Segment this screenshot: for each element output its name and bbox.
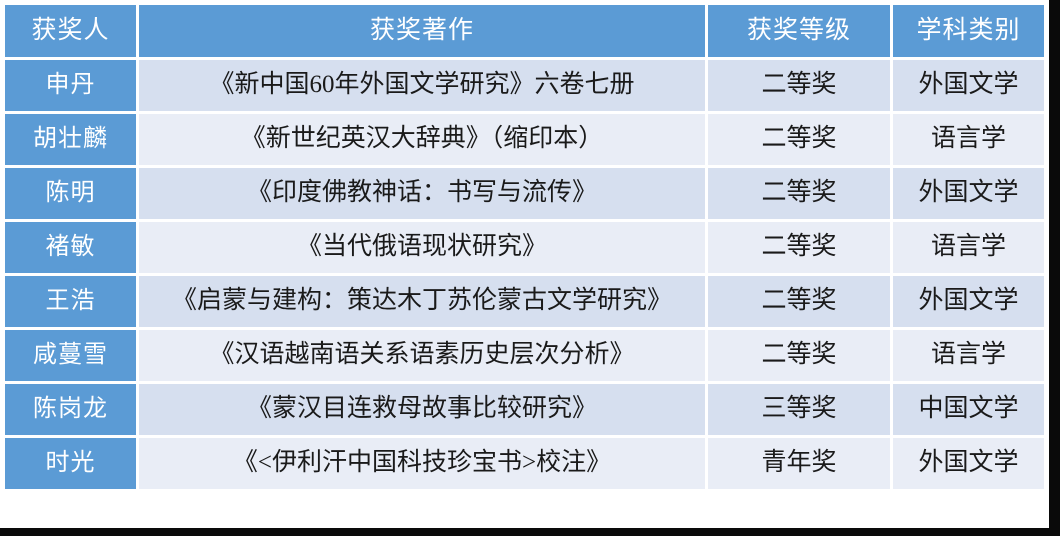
cell-winning-work: 《印度佛教神话：书写与流传》 [139, 168, 705, 219]
cell-discipline: 外国文学 [893, 168, 1044, 219]
cell-winning-work: 《新中国60年外国文学研究》六卷七册 [139, 60, 705, 111]
cell-award-level: 二等奖 [708, 168, 890, 219]
table-header: 获奖人 获奖著作 获奖等级 学科类别 [5, 5, 1044, 57]
cell-winner-name: 陈岗龙 [5, 384, 136, 435]
right-edge-border [1049, 0, 1060, 536]
table-row: 咸蔓雪 《汉语越南语关系语素历史层次分析》 二等奖 语言学 [5, 330, 1044, 381]
cell-winning-work: 《当代俄语现状研究》 [139, 222, 705, 273]
table-row: 王浩 《启蒙与建构：策达木丁苏伦蒙古文学研究》 二等奖 外国文学 [5, 276, 1044, 327]
cell-winner-name: 申丹 [5, 60, 136, 111]
cell-discipline: 外国文学 [893, 60, 1044, 111]
cell-award-level: 二等奖 [708, 114, 890, 165]
cell-discipline: 外国文学 [893, 276, 1044, 327]
cell-winning-work: 《启蒙与建构：策达木丁苏伦蒙古文学研究》 [139, 276, 705, 327]
cell-winning-work: 《<伊利汗中国科技珍宝书>校注》 [139, 438, 705, 489]
column-header-work: 获奖著作 [139, 5, 705, 57]
cell-award-level: 二等奖 [708, 330, 890, 381]
cell-discipline: 语言学 [893, 114, 1044, 165]
cell-winner-name: 陈明 [5, 168, 136, 219]
cell-discipline: 中国文学 [893, 384, 1044, 435]
cell-winner-name: 时光 [5, 438, 136, 489]
cell-award-level: 二等奖 [708, 222, 890, 273]
table-body: 申丹 《新中国60年外国文学研究》六卷七册 二等奖 外国文学 胡壮麟 《新世纪英… [5, 60, 1044, 489]
table-row: 胡壮麟 《新世纪英汉大辞典》（缩印本） 二等奖 语言学 [5, 114, 1044, 165]
column-header-name: 获奖人 [5, 5, 136, 57]
cell-winner-name: 咸蔓雪 [5, 330, 136, 381]
table-row: 褚敏 《当代俄语现状研究》 二等奖 语言学 [5, 222, 1044, 273]
cell-discipline: 外国文学 [893, 438, 1044, 489]
cell-winning-work: 《蒙汉目连救母故事比较研究》 [139, 384, 705, 435]
cell-discipline: 语言学 [893, 330, 1044, 381]
table-row: 申丹 《新中国60年外国文学研究》六卷七册 二等奖 外国文学 [5, 60, 1044, 111]
cell-winner-name: 褚敏 [5, 222, 136, 273]
table-row: 时光 《<伊利汗中国科技珍宝书>校注》 青年奖 外国文学 [5, 438, 1044, 489]
screenshot-page: 获奖人 获奖著作 获奖等级 学科类别 申丹 《新中国60年外国文学研究》六卷七册… [0, 0, 1060, 536]
cell-award-level: 二等奖 [708, 276, 890, 327]
cell-award-level: 青年奖 [708, 438, 890, 489]
award-winners-table: 获奖人 获奖著作 获奖等级 学科类别 申丹 《新中国60年外国文学研究》六卷七册… [2, 2, 1047, 492]
column-header-disc: 学科类别 [893, 5, 1044, 57]
table-header-row: 获奖人 获奖著作 获奖等级 学科类别 [5, 5, 1044, 57]
bottom-edge-border [0, 528, 1060, 536]
cell-winning-work: 《汉语越南语关系语素历史层次分析》 [139, 330, 705, 381]
cell-winner-name: 胡壮麟 [5, 114, 136, 165]
column-header-level: 获奖等级 [708, 5, 890, 57]
cell-award-level: 三等奖 [708, 384, 890, 435]
table-row: 陈岗龙 《蒙汉目连救母故事比较研究》 三等奖 中国文学 [5, 384, 1044, 435]
cell-winner-name: 王浩 [5, 276, 136, 327]
table-row: 陈明 《印度佛教神话：书写与流传》 二等奖 外国文学 [5, 168, 1044, 219]
cell-winning-work: 《新世纪英汉大辞典》（缩印本） [139, 114, 705, 165]
cell-award-level: 二等奖 [708, 60, 890, 111]
cell-discipline: 语言学 [893, 222, 1044, 273]
